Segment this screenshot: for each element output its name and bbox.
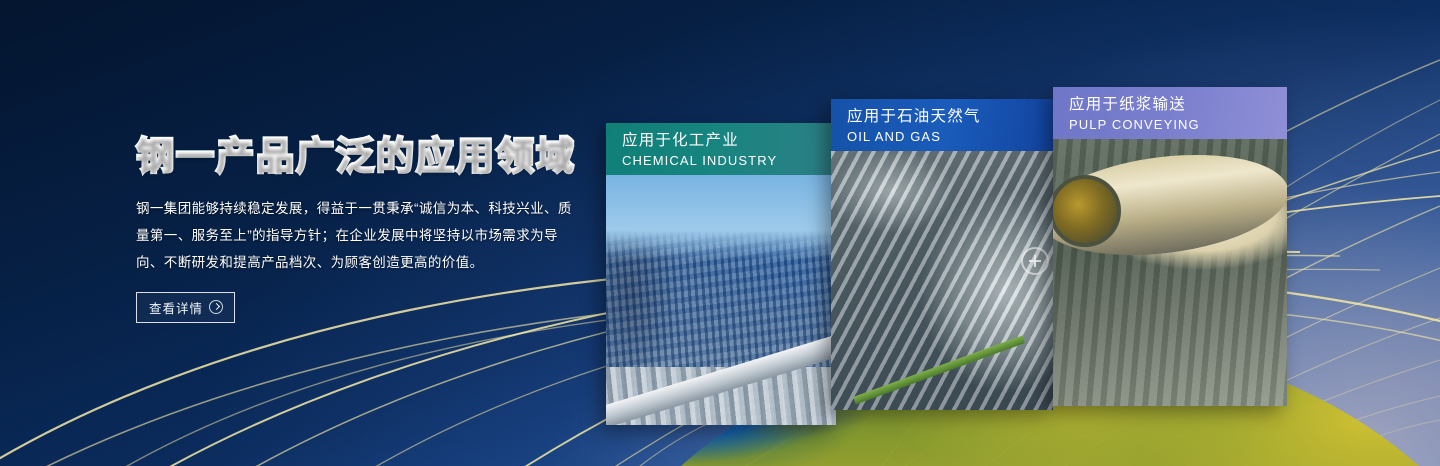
hero-banner: 钢一产品广泛的应用领域 钢一集团能够持续稳定发展，得益于一贯秉承“诚信为本、科技… [0,0,1440,466]
card-oil-photo [831,151,1053,410]
card-oil-header: 应用于石油天然气 OIL AND GAS [831,99,1053,151]
card-pulp-conveying[interactable]: 应用于纸浆输送 PULP CONVEYING [1053,87,1287,406]
card-pulp-header: 应用于纸浆输送 PULP CONVEYING [1053,87,1287,139]
card-pulp-title-cn: 应用于纸浆输送 [1069,94,1287,116]
view-details-label: 查看详情 [149,298,203,317]
card-chemical-title-cn: 应用于化工产业 [622,130,836,152]
chevron-right-icon [209,300,223,314]
card-chemical-header: 应用于化工产业 CHEMICAL INDUSTRY [606,123,836,175]
card-oil-title-cn: 应用于石油天然气 [847,106,1053,128]
view-details-button[interactable]: 查看详情 [136,292,235,323]
plus-zoom-icon[interactable] [1021,247,1049,275]
card-oil-title-en: OIL AND GAS [847,128,1053,146]
page-title: 钢一产品广泛的应用领域 [136,136,586,179]
card-chemical-photo [606,175,836,425]
card-oil-and-gas[interactable]: 应用于石油天然气 OIL AND GAS [831,99,1053,410]
hero-description: 钢一集团能够持续稳定发展，得益于一贯秉承“诚信为本、科技兴业、质量第一、服务至上… [136,195,578,276]
hero-copy-block: 钢一产品广泛的应用领域 钢一集团能够持续稳定发展，得益于一贯秉承“诚信为本、科技… [136,136,586,323]
card-pulp-photo [1053,139,1287,406]
card-chemical-industry[interactable]: 应用于化工产业 CHEMICAL INDUSTRY [606,123,836,425]
photo-green-pipe [853,335,1025,404]
card-pulp-title-en: PULP CONVEYING [1069,116,1287,134]
card-chemical-title-en: CHEMICAL INDUSTRY [622,152,836,170]
